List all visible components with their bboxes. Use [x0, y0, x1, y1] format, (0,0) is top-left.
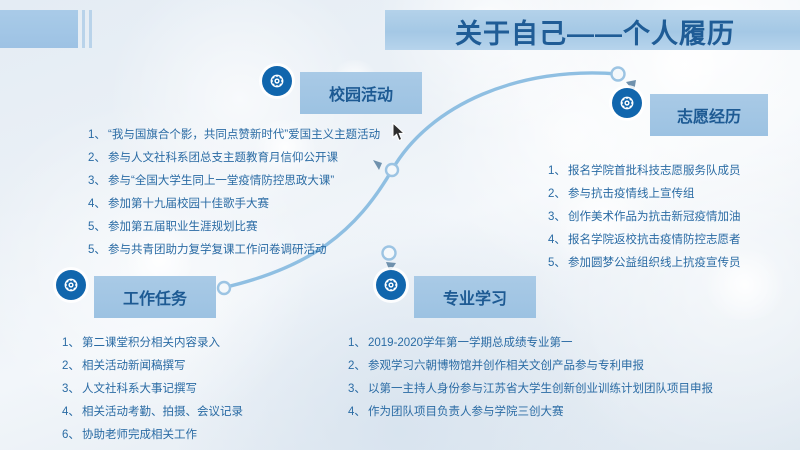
- list-item: 3、创作美术作品为抗击新冠疫情加油: [548, 206, 741, 229]
- section-label-box-campus[interactable]: 校园活动: [300, 72, 422, 114]
- list-item-text: 2019-2020学年第一学期总成绩专业第一: [368, 337, 573, 349]
- mouse-cursor: [392, 122, 406, 142]
- list-item-number: 2、: [88, 147, 108, 170]
- list-item-text: “我与国旗合个影，共同点赞新时代”爱国主义主题活动: [108, 129, 380, 141]
- section-label-work: 工作任务: [109, 285, 201, 309]
- list-item-number: 3、: [62, 378, 82, 401]
- list-item-text: 相关活动新闻稿撰写: [82, 360, 186, 372]
- section-label-box-work[interactable]: 工作任务: [94, 276, 216, 318]
- list-item: 5、参加圆梦公益组织线上抗疫宣传员: [548, 252, 741, 275]
- header-accent-bar: [0, 10, 78, 48]
- list-item: 3、参与“全国大学生同上一堂疫情防控思政大课”: [88, 170, 380, 193]
- list-item-number: 2、: [348, 355, 368, 378]
- list-item-number: 5、: [88, 239, 108, 262]
- list-item-text: 作为团队项目负责人参与学院三创大赛: [368, 406, 564, 418]
- list-item: 1、“我与国旗合个影，共同点赞新时代”爱国主义主题活动: [88, 124, 380, 147]
- list-item: 3、以第一主持人身份参与江苏省大学生创新创业训练计划团队项目申报: [348, 378, 713, 401]
- list-item-text: 以第一主持人身份参与江苏省大学生创新创业训练计划团队项目申报: [368, 383, 713, 395]
- list-item-text: 报名学院首批科技志愿服务队成员: [568, 165, 741, 177]
- section-label-campus: 校园活动: [315, 81, 407, 105]
- list-item-text: 人文社科系大事记撰写: [82, 383, 197, 395]
- list-item-text: 报名学院返校抗击疫情防控志愿者: [568, 234, 741, 246]
- section-label-major: 专业学习: [429, 285, 521, 309]
- gear-icon[interactable]: [56, 270, 86, 300]
- list-item: 2、参与人文社科系团总支主题教育月信仰公开课: [88, 147, 380, 170]
- list-item: 2、相关活动新闻稿撰写: [62, 355, 243, 378]
- list-item-text: 第二课堂积分相关内容录入: [82, 337, 220, 349]
- list-item: 4、参加第十九届校园十佳歌手大赛: [88, 193, 380, 216]
- list-item-number: 6、: [62, 424, 82, 447]
- list-item-text: 协助老师完成相关工作: [82, 429, 197, 441]
- list-item-number: 4、: [348, 401, 368, 424]
- list-item: 4、相关活动考勤、拍摄、会议记录: [62, 401, 243, 424]
- list-item-number: 1、: [62, 332, 82, 355]
- list-item-number: 4、: [88, 193, 108, 216]
- list-item-text: 参与共青团助力复学复课工作问卷调研活动: [108, 244, 327, 256]
- list-item-number: 3、: [348, 378, 368, 401]
- list-item-text: 参加第十九届校园十佳歌手大赛: [108, 198, 269, 210]
- gear-icon[interactable]: [612, 88, 642, 118]
- list-item-number: 2、: [62, 355, 82, 378]
- list-item-text: 创作美术作品为抗击新冠疫情加油: [568, 211, 741, 223]
- list-item-text: 参加圆梦公益组织线上抗疫宣传员: [568, 257, 741, 269]
- bullet-list-work: 1、第二课堂积分相关内容录入2、相关活动新闻稿撰写3、人文社科系大事记撰写4、相…: [62, 332, 243, 447]
- list-item: 2、参与抗击疫情线上宣传组: [548, 183, 741, 206]
- header-tick-line: [89, 10, 92, 48]
- list-item: 1、第二课堂积分相关内容录入: [62, 332, 243, 355]
- list-item-text: 参观学习六朝博物馆并创作相关文创产品参与专利申报: [368, 360, 644, 372]
- gear-icon[interactable]: [262, 66, 292, 96]
- list-item-text: 参与“全国大学生同上一堂疫情防控思政大课”: [108, 175, 334, 187]
- bullet-list-volunteer: 1、报名学院首批科技志愿服务队成员2、参与抗击疫情线上宣传组3、创作美术作品为抗…: [548, 160, 741, 275]
- list-item-text: 相关活动考勤、拍摄、会议记录: [82, 406, 243, 418]
- list-item-text: 参加第五届职业生涯规划比赛: [108, 221, 258, 233]
- section-label-box-volunteer[interactable]: 志愿经历: [650, 94, 768, 136]
- bullet-list-campus: 1、“我与国旗合个影，共同点赞新时代”爱国主义主题活动2、参与人文社科系团总支主…: [88, 124, 380, 262]
- list-item-number: 4、: [548, 229, 568, 252]
- list-item: 3、人文社科系大事记撰写: [62, 378, 243, 401]
- list-item-number: 2、: [548, 183, 568, 206]
- page-title: 关于自己——个人履历: [455, 12, 735, 51]
- list-item-number: 1、: [548, 160, 568, 183]
- list-item-number: 3、: [548, 206, 568, 229]
- list-item-number: 1、: [348, 332, 368, 355]
- list-item: 5、参与共青团助力复学复课工作问卷调研活动: [88, 239, 380, 262]
- header-tick-line: [82, 10, 85, 48]
- list-item-number: 5、: [88, 216, 108, 239]
- list-item: 2、参观学习六朝博物馆并创作相关文创产品参与专利申报: [348, 355, 713, 378]
- list-item-number: 1、: [88, 124, 108, 147]
- list-item: 4、报名学院返校抗击疫情防控志愿者: [548, 229, 741, 252]
- gear-icon[interactable]: [376, 270, 406, 300]
- list-item: 4、作为团队项目负责人参与学院三创大赛: [348, 401, 713, 424]
- bullet-list-major: 1、2019-2020学年第一学期总成绩专业第一2、参观学习六朝博物馆并创作相关…: [348, 332, 713, 424]
- section-label-box-major[interactable]: 专业学习: [414, 276, 536, 318]
- list-item-text: 参与人文社科系团总支主题教育月信仰公开课: [108, 152, 338, 164]
- slide-canvas: 关于自己——个人履历 校园活动 1: [0, 0, 800, 450]
- list-item: 6、协助老师完成相关工作: [62, 424, 243, 447]
- list-item-number: 3、: [88, 170, 108, 193]
- list-item-number: 5、: [548, 252, 568, 275]
- list-item: 1、2019-2020学年第一学期总成绩专业第一: [348, 332, 713, 355]
- list-item: 5、参加第五届职业生涯规划比赛: [88, 216, 380, 239]
- list-item: 1、报名学院首批科技志愿服务队成员: [548, 160, 741, 183]
- list-item-number: 4、: [62, 401, 82, 424]
- section-label-volunteer: 志愿经历: [663, 103, 755, 127]
- list-item-text: 参与抗击疫情线上宣传组: [568, 188, 695, 200]
